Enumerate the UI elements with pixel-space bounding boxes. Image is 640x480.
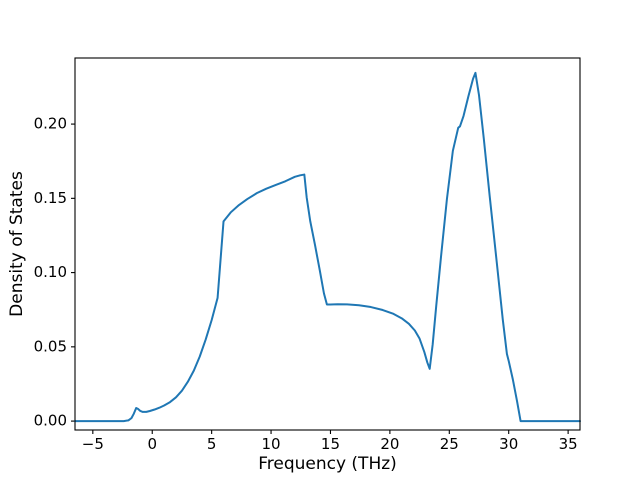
density-of-states-plot: −505101520253035 0.000.050.100.150.20 Fr… (0, 0, 640, 480)
x-tick-label: 30 (499, 435, 518, 453)
x-tick-label: −5 (82, 435, 104, 453)
y-axis-label: Density of States (7, 171, 27, 317)
x-tick-label: 20 (380, 435, 399, 453)
axes-background (75, 58, 580, 430)
x-axis-label: Frequency (THz) (258, 454, 397, 474)
y-tick-label: 0.20 (34, 115, 67, 133)
x-tick-label: 10 (262, 435, 281, 453)
x-tick-label: 0 (147, 435, 157, 453)
y-tick-label: 0.10 (34, 263, 67, 281)
x-tick-label: 35 (559, 435, 578, 453)
y-tick-label: 0.05 (34, 337, 67, 355)
x-tick-label: 25 (440, 435, 459, 453)
y-tick-label: 0.00 (34, 412, 67, 430)
x-tick-label: 15 (321, 435, 340, 453)
x-tick-label: 5 (207, 435, 217, 453)
y-tick-label: 0.15 (34, 189, 67, 207)
matplotlib-figure: −505101520253035 0.000.050.100.150.20 Fr… (0, 0, 640, 480)
